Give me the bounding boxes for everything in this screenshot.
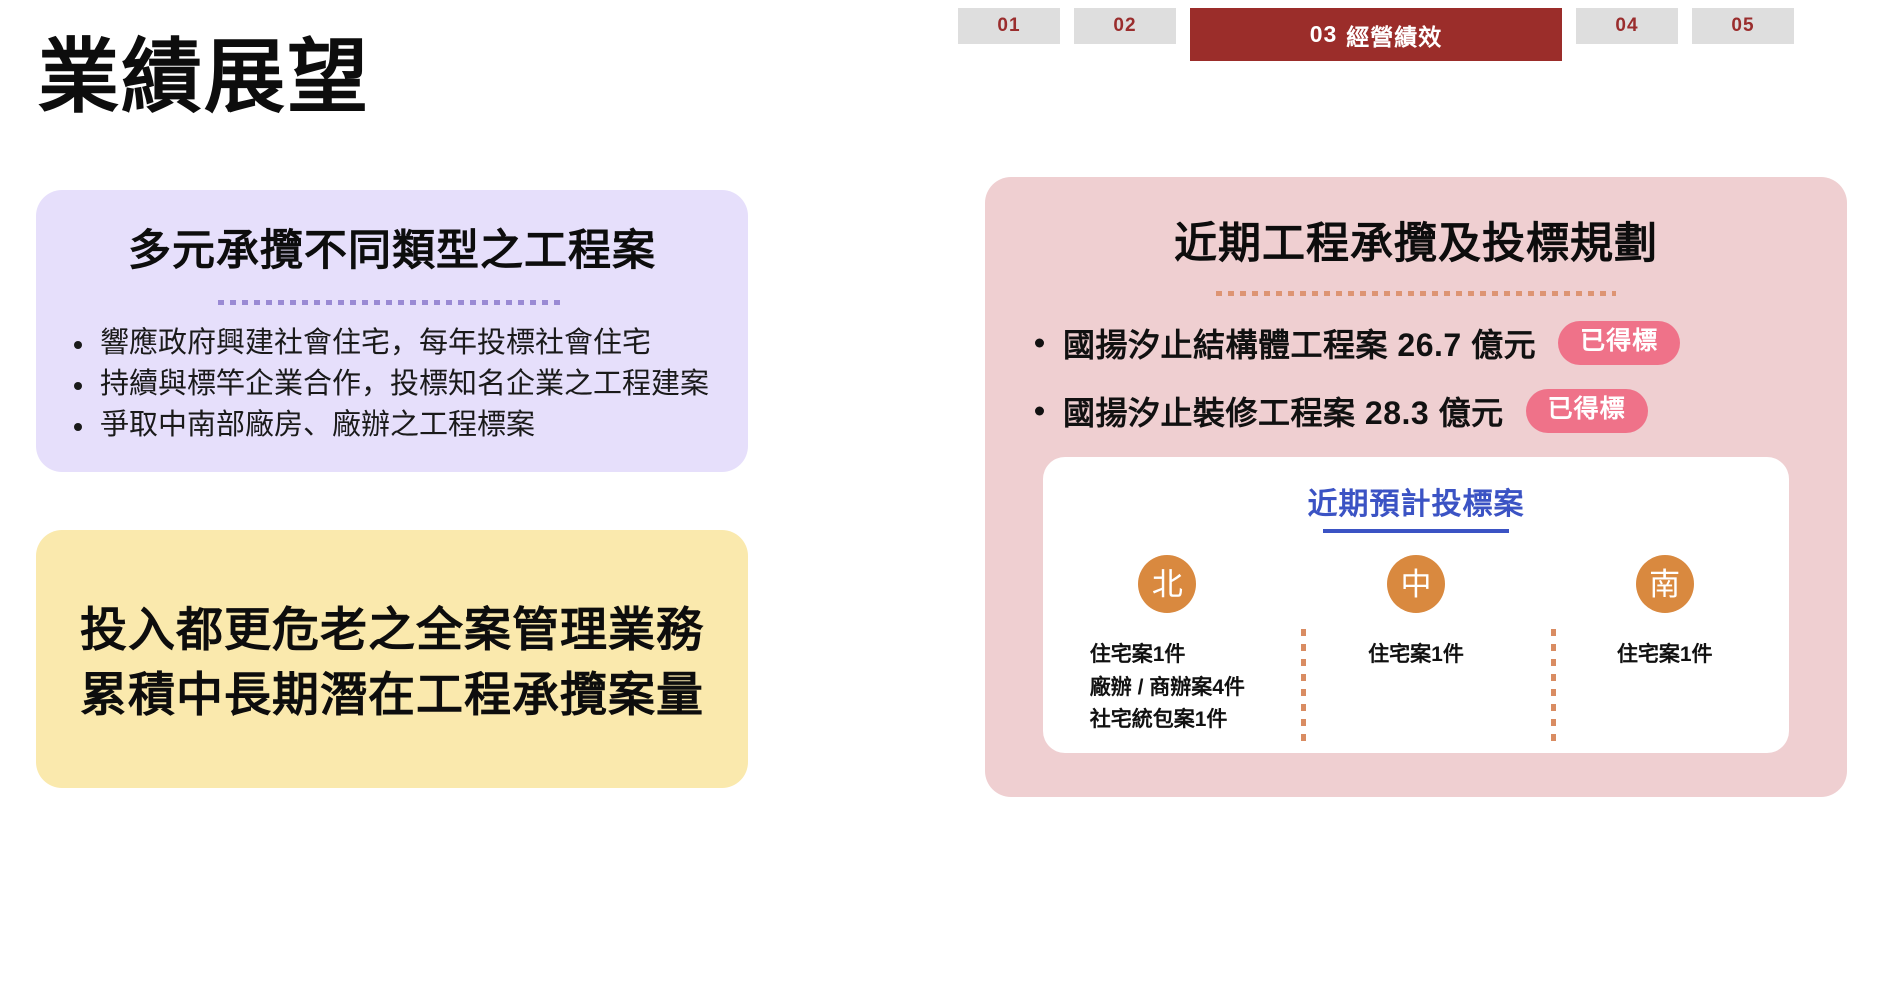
list-item: 持續與標竿企業合作，投標知名企業之工程建案	[70, 364, 748, 405]
card-diverse-projects: 多元承攬不同類型之工程案 響應政府興建社會住宅，每年投標社會住宅 持續與標竿企業…	[36, 190, 748, 472]
region-items-central: 住宅案1件	[1368, 639, 1464, 672]
region-row: 北 住宅案1件廠辦 / 商辦案4件社宅統包案1件 中 住宅案1件 南 住宅案1件	[1043, 555, 1789, 755]
list-item: 爭取中南部廠房、廠辦之工程標案	[70, 405, 748, 446]
list-item: 國揚汐止結構體工程案 26.7 億元 已得標	[1031, 320, 1847, 366]
status-badge: 已得標	[1526, 389, 1648, 432]
bid-text-1: 國揚汐止結構體工程案 26.7 億元	[1063, 320, 1536, 366]
nav-chip-01-number: 01	[997, 15, 1020, 37]
card-urban-renewal: 投入都更危老之全案管理業務 累積中長期潛在工程承攬案量	[36, 530, 748, 788]
pink-card-bid-list: 國揚汐止結構體工程案 26.7 億元 已得標 國揚汐止裝修工程案 28.3 億元…	[985, 296, 1847, 434]
nav-chip-03-active[interactable]: 03 經營績效	[1190, 8, 1562, 61]
pink-card-heading: 近期工程承攬及投標規劃	[985, 177, 1847, 271]
nav-chip-03-label: 經營績效	[1346, 18, 1442, 52]
purple-card-bullet-list: 響應政府興建社會住宅，每年投標社會住宅 持續與標竿企業合作，投標知名企業之工程建…	[36, 305, 748, 447]
purple-card-heading: 多元承攬不同類型之工程案	[36, 190, 748, 278]
panel-title: 近期預計投標案	[1043, 457, 1789, 523]
region-items-north: 住宅案1件廠辦 / 商辦案4件社宅統包案1件	[1090, 639, 1245, 737]
nav-chip-04[interactable]: 04	[1576, 8, 1678, 44]
nav-chip-05-number: 05	[1731, 15, 1754, 37]
region-badge-north: 北	[1138, 555, 1196, 613]
yellow-card-line-1: 投入都更危老之全案管理業務	[36, 598, 748, 663]
nav-chip-05[interactable]: 05	[1692, 8, 1794, 44]
nav-chip-02-number: 02	[1113, 15, 1136, 37]
yellow-card-text: 投入都更危老之全案管理業務 累積中長期潛在工程承攬案量	[36, 530, 748, 728]
yellow-card-line-2: 累積中長期潛在工程承攬案量	[36, 663, 748, 728]
page-title: 業績展望	[38, 38, 370, 119]
region-items-south: 住宅案1件	[1617, 639, 1713, 672]
status-badge: 已得標	[1558, 321, 1680, 364]
bid-text-2: 國揚汐止裝修工程案 28.3 億元	[1063, 388, 1504, 434]
region-column-south: 南 住宅案1件	[1540, 555, 1789, 755]
region-badge-south: 南	[1636, 555, 1694, 613]
nav-chip-01[interactable]: 01	[958, 8, 1060, 44]
panel-title-underline	[1323, 529, 1509, 533]
nav-chip-04-number: 04	[1615, 15, 1638, 37]
section-nav: 01 02 03 經營績效 04 05	[958, 8, 1806, 60]
nav-chip-03-number: 03	[1310, 21, 1338, 48]
list-item: 國揚汐止裝修工程案 28.3 億元 已得標	[1031, 388, 1847, 434]
nav-chip-02[interactable]: 02	[1074, 8, 1176, 44]
region-badge-central: 中	[1387, 555, 1445, 613]
region-column-central: 中 住宅案1件	[1292, 555, 1541, 755]
list-item: 響應政府興建社會住宅，每年投標社會住宅	[70, 323, 748, 364]
region-column-north: 北 住宅案1件廠辦 / 商辦案4件社宅統包案1件	[1043, 555, 1292, 755]
upcoming-bids-panel: 近期預計投標案 北 住宅案1件廠辦 / 商辦案4件社宅統包案1件 中 住宅案1件…	[1043, 457, 1789, 753]
